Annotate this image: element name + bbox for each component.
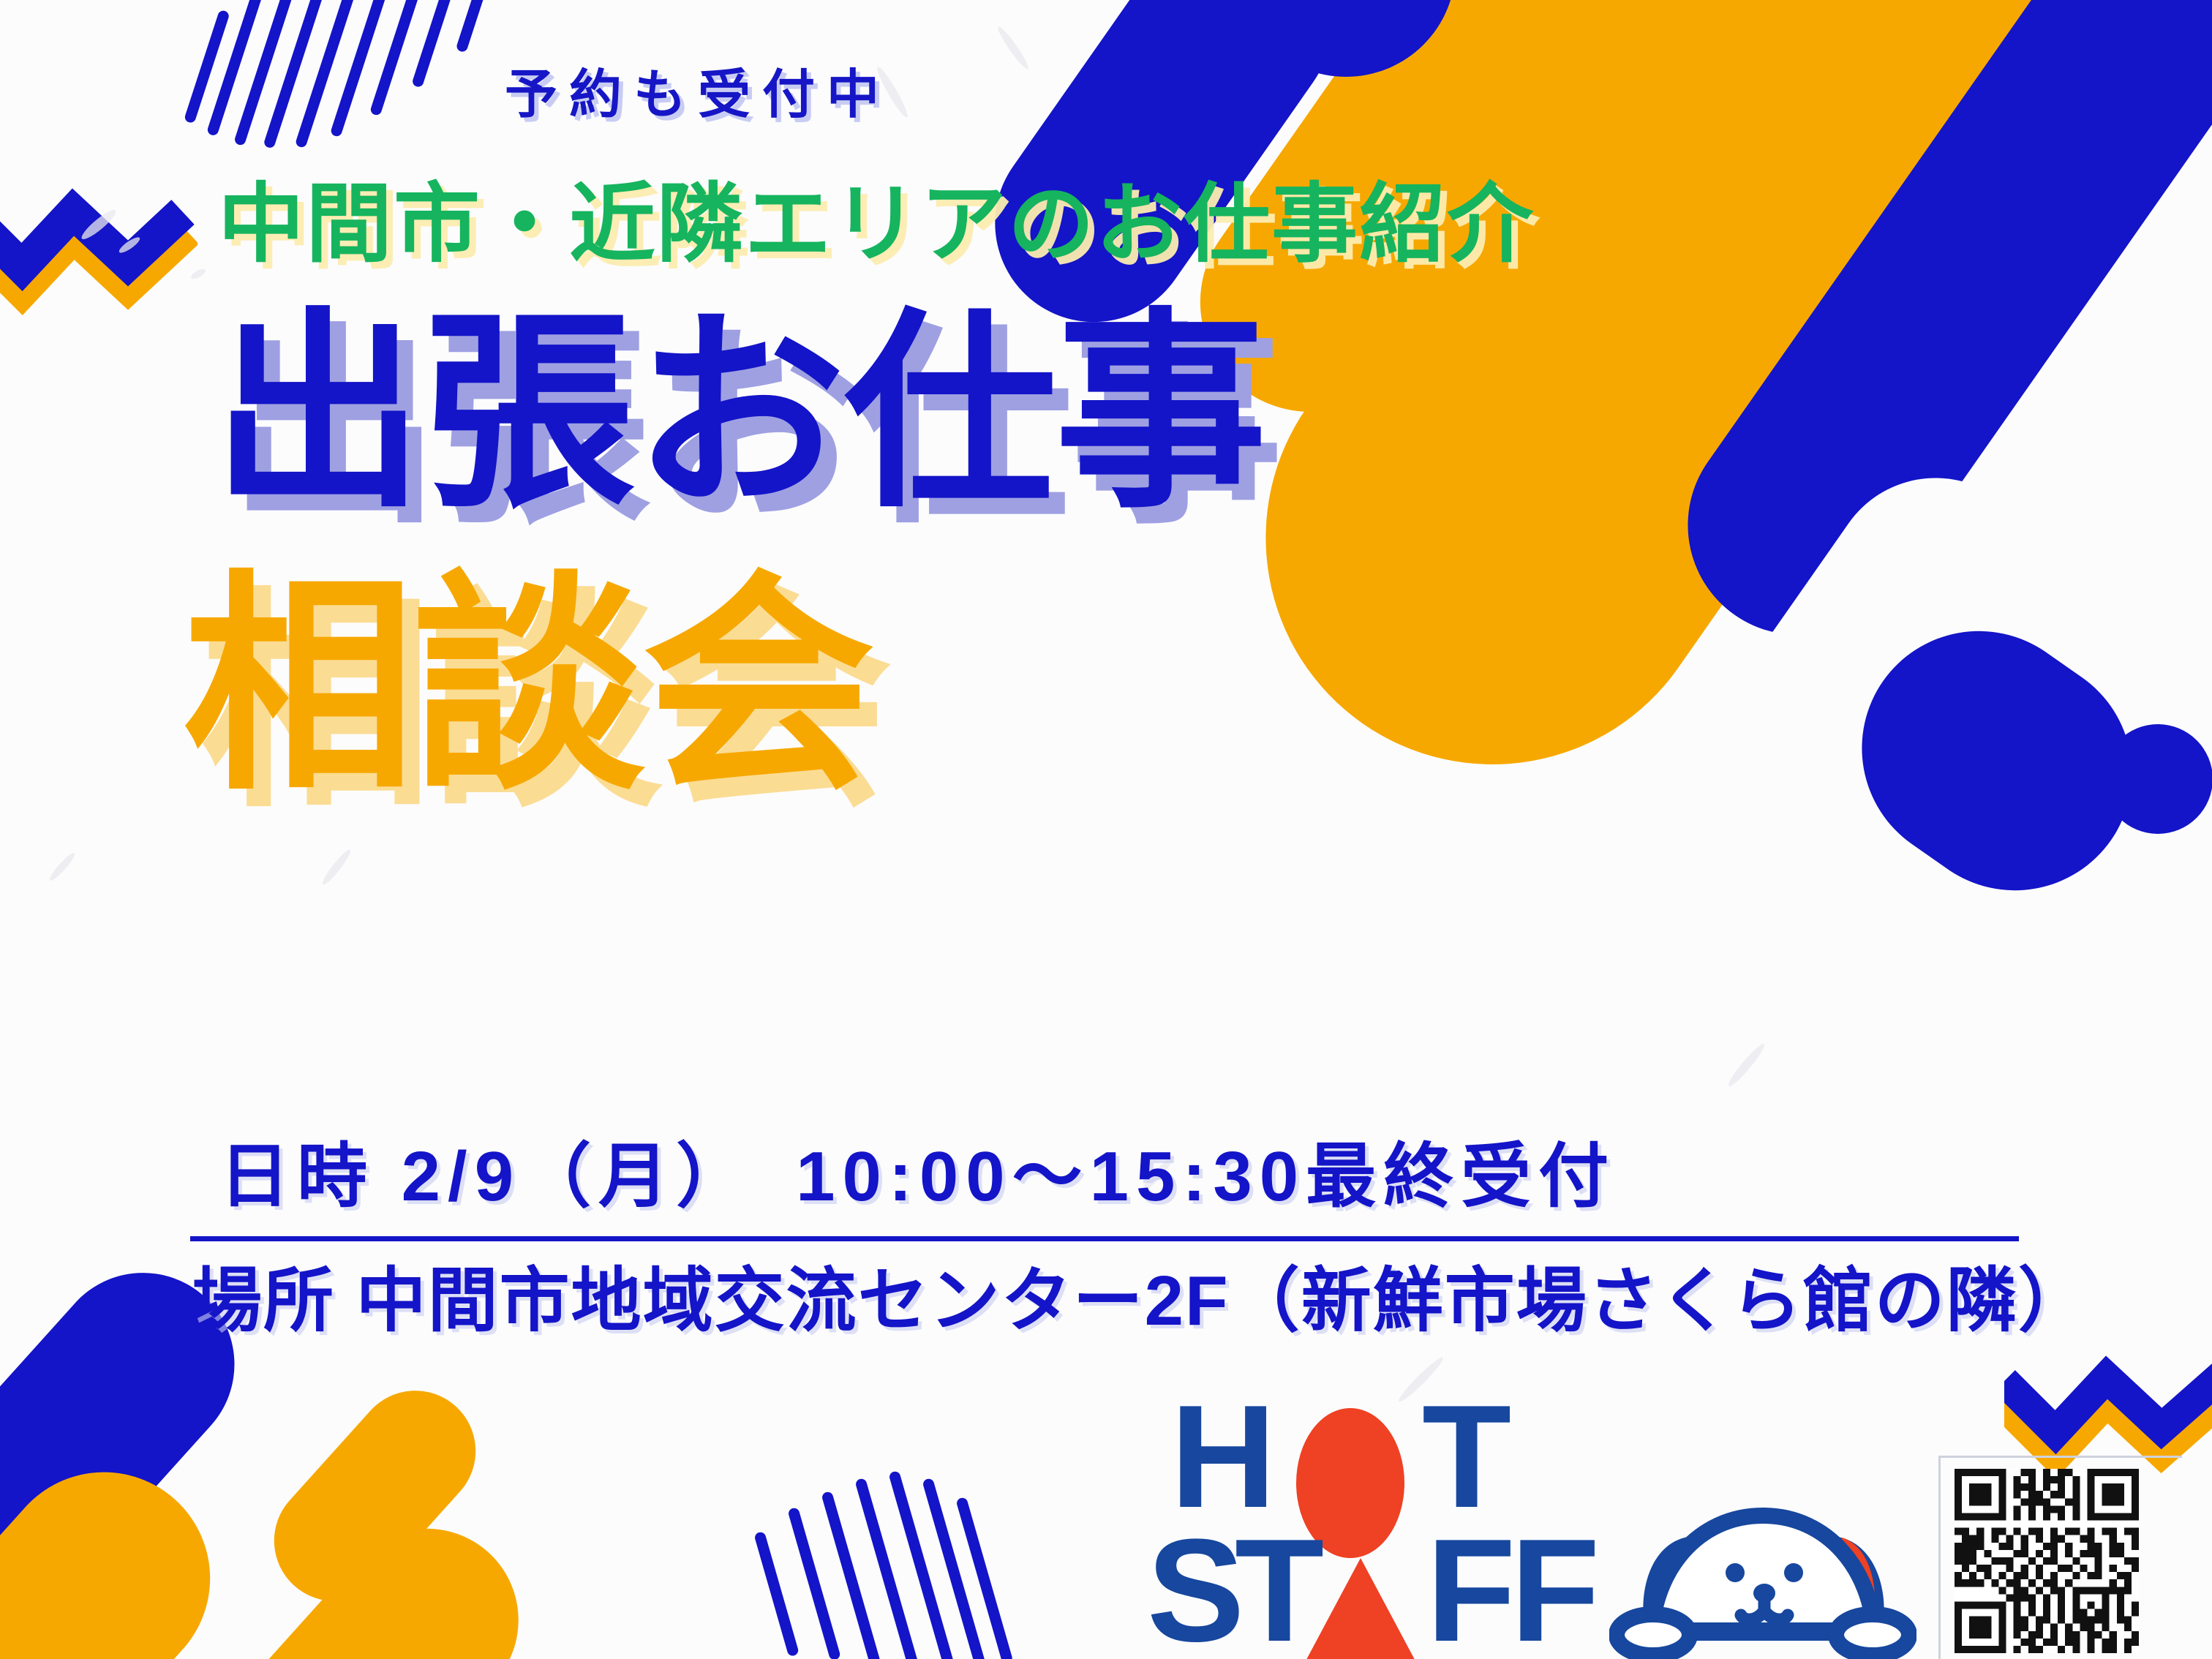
deco-fleck [117, 235, 142, 255]
info-divider-rule [190, 1236, 2019, 1241]
datetime-line: 日時 2/9（月） 10:00〜15:30最終受付 [219, 1119, 1616, 1221]
deco-fleck [320, 847, 353, 887]
deco-yellow-capsule-bottom-left-3 [249, 1366, 500, 1626]
logo-red-triangle-a [1296, 1558, 1425, 1659]
deco-blue-blob-right [1816, 585, 2178, 936]
eyebrow-text: 予約も受付中 [505, 51, 891, 128]
deco-blue-circle-top [1236, 0, 1456, 77]
deco-fleck [189, 267, 207, 281]
venue-line: 場所 中間市地域交流センター2F（新鮮市場さくら館の隣） [192, 1244, 2090, 1345]
qr-code-frame [1938, 1456, 2182, 1659]
deco-hatch-bottom-center [753, 1463, 987, 1659]
deco-fleck [48, 851, 78, 883]
deco-zigzag-left [0, 187, 197, 326]
deco-blue-band-top-right [1645, 0, 2212, 678]
logo-letter-h: H [1170, 1384, 1273, 1530]
deco-yellow-band-top-right [1177, 0, 2203, 854]
deco-yellow-capsule-bottom-left-2 [146, 1491, 556, 1659]
title-line1: 出張お仕事 [212, 307, 1265, 519]
deco-hatch-top-left [219, 0, 534, 161]
logo-letter-s: S [1147, 1518, 1241, 1659]
subtitle-text: 中間市・近隣エリアのお仕事紹介 [218, 154, 1535, 279]
deco-white-capsule-right [1633, 437, 2083, 954]
logo-letter-f2: F [1511, 1518, 1597, 1659]
deco-fleck [79, 206, 119, 242]
dog-mascot [1609, 1507, 1916, 1659]
poster-canvas: 予約も受付中 中間市・近隣エリアのお仕事紹介 出張お仕事 相談会 日時 2/9（… [0, 0, 2212, 1659]
deco-fleck [995, 25, 1031, 72]
deco-fleck [1726, 1041, 1767, 1088]
title-line2: 相談会 [183, 571, 872, 803]
hot-staff-logo: H T S T F F [1170, 1412, 1682, 1659]
logo-letter-f1: F [1426, 1518, 1513, 1659]
logo-letter-t: T [1422, 1384, 1508, 1530]
deco-blue-dot-right [2103, 724, 2212, 834]
deco-yellow-capsule-bottom-left-1 [0, 1429, 254, 1659]
